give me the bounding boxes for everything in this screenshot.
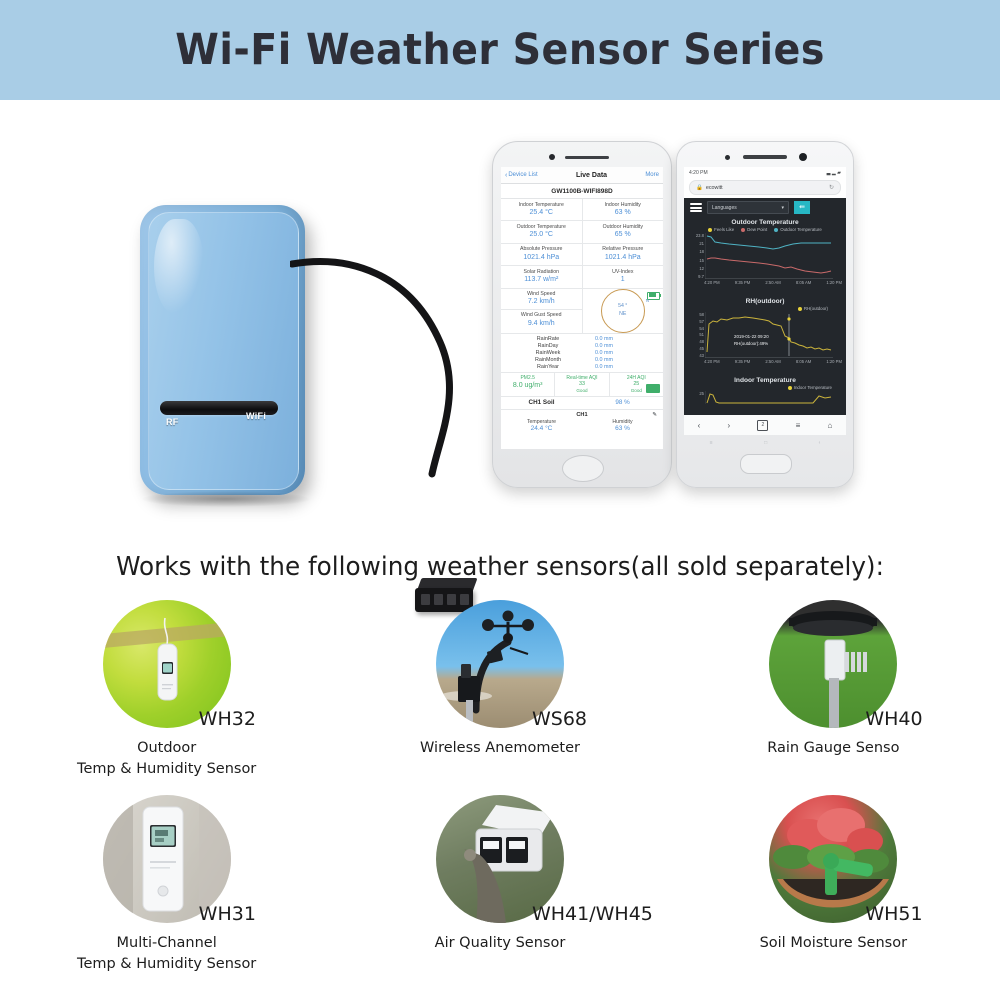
reading-uv-index: UV-Index 1 bbox=[582, 266, 664, 287]
reading-row: Solar Radiation 113.7 w/m² UV-Index 1 bbox=[501, 266, 663, 288]
lock-icon: 🔒 bbox=[696, 185, 703, 191]
browser-address-bar[interactable]: 🔒 ecowitt ↻ bbox=[689, 180, 841, 195]
reading-outdoor-temperature: Outdoor Temperature 25.0 °C bbox=[501, 221, 582, 242]
compass-north-label: N bbox=[646, 298, 649, 303]
compass-dial: 54 ° NE bbox=[601, 289, 645, 333]
reload-icon[interactable]: ↻ bbox=[829, 184, 834, 191]
y-tick: 18 bbox=[699, 249, 704, 254]
android-status-bar: 4:20 PM ▃ ▂ ▰ bbox=[684, 167, 846, 178]
pm25-value: 8.0 ug/m³ bbox=[501, 381, 554, 390]
caption-line-1: Soil Moisture Sensor bbox=[667, 933, 1000, 954]
x-tick: 8:05 AM bbox=[796, 359, 811, 364]
y-tick: 12 bbox=[699, 266, 704, 271]
chart-rh-outdoor: RH(outdoor) RH(outdoor) 58 57 54 51 bbox=[684, 297, 846, 370]
front-camera-icon bbox=[799, 153, 807, 161]
chart-plot: 23.8 21 18 15 12 9.7 bbox=[688, 233, 842, 291]
chart-tooltip: 2019-01-22 09:20 RH(outdoor):49% bbox=[734, 334, 769, 347]
tooltip-value: RH(outdoor):49% bbox=[734, 341, 769, 348]
chevron-left-icon: ‹ bbox=[505, 172, 507, 179]
ch1-readings: Temperature 24.4 °C Humidity 63 % bbox=[501, 419, 663, 432]
reading-relative-pressure: Relative Pressure 1021.4 hPa bbox=[582, 244, 664, 265]
earpiece-speaker bbox=[743, 155, 787, 159]
reading-absolute-pressure: Absolute Pressure 1021.4 hPa bbox=[501, 244, 582, 265]
caption-line-2: Temp & Humidity Sensor bbox=[0, 759, 333, 780]
reading-value: 25.4 °C bbox=[501, 208, 582, 217]
soil-label: CH1 Soil bbox=[501, 399, 582, 406]
sensor-model-wh41: WH41/WH45 bbox=[532, 903, 653, 925]
ecowitt-web-app: Languages ▾ ⇚ Outdoor Temperature Feels … bbox=[684, 198, 846, 435]
device-shadow bbox=[142, 491, 310, 507]
legend-item[interactable]: Feels Like bbox=[708, 227, 734, 232]
chart-legend: RH(outdoor) bbox=[684, 306, 846, 311]
y-tick: 54 bbox=[699, 326, 704, 331]
home-button[interactable] bbox=[562, 455, 604, 482]
x-tick: 2:50 AM bbox=[765, 359, 780, 364]
legend-label: Dew Point bbox=[747, 227, 767, 232]
iphone-mockup: ‹ Device List Live Data More GW1100B-WIF… bbox=[492, 141, 672, 488]
reading-row: Absolute Pressure 1021.4 hPa Relative Pr… bbox=[501, 244, 663, 266]
y-tick: 57 bbox=[699, 319, 704, 324]
chart-title: RH(outdoor) bbox=[684, 297, 846, 306]
wind-direction-compass: N 54 ° NE bbox=[582, 289, 664, 333]
android-screen: 4:20 PM ▃ ▂ ▰ 🔒 ecowitt ↻ Languages ▾ bbox=[684, 167, 846, 435]
caption-line-1: Multi-Channel bbox=[0, 933, 333, 954]
x-tick: 1:20 PM bbox=[826, 359, 842, 364]
sensor-card-wh32[interactable]: WH32 Outdoor Temp & Humidity Sensor bbox=[0, 600, 333, 795]
sensor-cable bbox=[290, 250, 480, 480]
x-tick: 4:20 PM bbox=[704, 280, 720, 285]
reading-indoor-temperature: Indoor Temperature 25.4 °C bbox=[501, 199, 582, 220]
sensor-card-wh51[interactable]: WH51 Soil Moisture Sensor bbox=[667, 795, 1000, 990]
browser-home-button[interactable]: ⌂ bbox=[828, 421, 833, 430]
proximity-sensor-icon bbox=[725, 155, 730, 160]
rain-row: RainMonth 0.0 mm bbox=[501, 356, 663, 363]
rain-row: RainRate 0.0 mm bbox=[501, 335, 663, 342]
x-tick: 1:20 PM bbox=[826, 280, 842, 285]
sensor-caption-wh31: Multi-Channel Temp & Humidity Sensor bbox=[0, 933, 333, 975]
hamburger-menu-icon[interactable] bbox=[690, 203, 702, 212]
rain-row: RainYear 0.0 mm bbox=[501, 363, 663, 370]
sensor-card-wh31[interactable]: WH31 Multi-Channel Temp & Humidity Senso… bbox=[0, 795, 333, 990]
reading-value: 65 % bbox=[583, 230, 664, 239]
system-navigation-bar: ≡ □ ‹ bbox=[684, 437, 846, 449]
language-select[interactable]: Languages ▾ bbox=[707, 201, 789, 214]
ch1-humidity: Humidity 63 % bbox=[582, 419, 663, 432]
y-tick: 58 bbox=[699, 312, 704, 317]
rain-label: RainWeek bbox=[501, 350, 595, 356]
ch1-temperature: Temperature 24.4 °C bbox=[501, 419, 582, 432]
device-gloss bbox=[154, 219, 204, 314]
rain-row: RainWeek 0.0 mm bbox=[501, 349, 663, 356]
chart-legend: Feels Like Dew Point Outdoor Temperature bbox=[684, 227, 846, 232]
browser-navigation-bar: ‹ › 2 ≡ ⌂ bbox=[684, 415, 846, 435]
caption-line-1: Outdoor bbox=[0, 738, 333, 759]
system-recent-button[interactable]: ≡ bbox=[710, 440, 713, 446]
sensor-caption-wh41: Air Quality Sensor bbox=[333, 933, 666, 954]
chart-lines bbox=[705, 312, 833, 358]
reading-row: Outdoor Temperature 25.0 °C Outdoor Humi… bbox=[501, 221, 663, 243]
chart-plot: 58 57 54 51 48 45 43 bbox=[688, 312, 842, 370]
reading-indoor-humidity: Indoor Humidity 63 % bbox=[582, 199, 664, 220]
reading-wind-speed: Wind Speed 7.2 km/h bbox=[501, 289, 582, 309]
chart-legend: Indoor Temperature bbox=[684, 385, 846, 390]
caption-line-2: Temp & Humidity Sensor bbox=[0, 954, 333, 975]
browser-back-button[interactable]: ‹ bbox=[698, 421, 701, 430]
x-axis-ticks: 4:20 PM 9:35 PM 2:50 AM 8:05 AM 1:20 PM bbox=[704, 280, 842, 285]
reading-value: 7.2 km/h bbox=[501, 297, 582, 306]
reading-value: 113.7 w/m² bbox=[501, 275, 582, 284]
ch1-temp-value: 24.4 °C bbox=[501, 425, 582, 432]
sensor-row-top: WH32 Outdoor Temp & Humidity Sensor bbox=[0, 600, 1000, 795]
x-tick: 9:35 PM bbox=[735, 280, 751, 285]
device-id-label: GW1100B-WIFI898D bbox=[501, 184, 663, 199]
legend-item[interactable]: Indoor Temperature bbox=[788, 385, 832, 390]
reading-value: 1 bbox=[583, 275, 664, 284]
app-toolbar: Languages ▾ ⇚ bbox=[684, 201, 846, 218]
reading-outdoor-humidity: Outdoor Humidity 65 % bbox=[582, 221, 664, 242]
hero-section: RF WiFi ‹ Device List Live Data More bbox=[0, 100, 1000, 540]
page-title: Wi-Fi Weather Sensor Series bbox=[175, 25, 825, 75]
y-tick: 15 bbox=[699, 258, 704, 263]
sensor-caption-wh51: Soil Moisture Sensor bbox=[667, 933, 1000, 954]
back-label: Device List bbox=[508, 172, 537, 178]
chart-plot: 25 bbox=[688, 391, 842, 405]
browser-tabs-button[interactable]: 2 bbox=[757, 420, 768, 431]
device-label-wifi: WiFi bbox=[246, 411, 266, 421]
legend-label: Outdoor Temperature bbox=[780, 227, 822, 232]
pm25-cell: PM2.5 8.0 ug/m³ bbox=[501, 373, 554, 396]
reading-solar-radiation: Solar Radiation 113.7 w/m² bbox=[501, 266, 582, 287]
sensor-card-wh41[interactable]: WH41/WH45 Air Quality Sensor bbox=[333, 795, 666, 990]
air-quality-section: PM2.5 8.0 ug/m³ Real-time AQI 33 Good 24… bbox=[501, 373, 663, 397]
y-tick: 21 bbox=[699, 241, 704, 246]
legend-label: Indoor Temperature bbox=[794, 385, 832, 390]
share-button[interactable]: ⇚ bbox=[794, 201, 810, 214]
language-select-value: Languages bbox=[712, 205, 737, 211]
x-axis-ticks: 4:20 PM 9:35 PM 2:50 AM 8:05 AM 1:20 PM bbox=[704, 359, 842, 364]
rain-label: RainYear bbox=[501, 364, 595, 370]
compass-direction: NE bbox=[619, 311, 626, 318]
page-header: Wi-Fi Weather Sensor Series bbox=[0, 0, 1000, 100]
chart-indoor-temperature: Indoor Temperature Indoor Temperature 25 bbox=[684, 376, 846, 405]
edit-pencil-icon[interactable]: ✎ bbox=[652, 412, 657, 418]
system-back-button[interactable]: ‹ bbox=[819, 440, 821, 446]
aqi-battery-icon bbox=[646, 384, 660, 393]
ch1-title: CH1 bbox=[576, 412, 587, 418]
back-to-device-list-button[interactable]: ‹ Device List bbox=[505, 172, 538, 179]
device-label-rf: RF bbox=[166, 417, 179, 427]
realtime-aqi-status: Good bbox=[555, 388, 608, 393]
soil-section: CH1 Soil 98 % bbox=[501, 397, 663, 410]
legend-label: Feels Like bbox=[714, 227, 734, 232]
front-camera-icon bbox=[549, 154, 555, 160]
share-icon: ⇚ bbox=[799, 204, 805, 211]
legend-item[interactable]: RH(outdoor) bbox=[798, 306, 828, 311]
rain-value: 0.0 mm bbox=[595, 364, 653, 370]
browser-forward-button[interactable]: › bbox=[728, 421, 731, 430]
caption-line-1: Air Quality Sensor bbox=[333, 933, 666, 954]
y-axis-ticks: 23.8 21 18 15 12 9.7 bbox=[688, 233, 704, 279]
sensor-model-wh31: WH31 bbox=[199, 903, 256, 925]
y-tick: 9.7 bbox=[698, 274, 704, 279]
sensor-caption-ws68: Wireless Anemometer bbox=[333, 738, 666, 759]
rain-label: RainDay bbox=[501, 343, 595, 349]
sensor-grid: WH32 Outdoor Temp & Humidity Sensor bbox=[0, 600, 1000, 990]
android-phone-mockup: 4:20 PM ▃ ▂ ▰ 🔒 ecowitt ↻ Languages ▾ bbox=[676, 141, 854, 488]
more-button[interactable]: More bbox=[645, 172, 659, 178]
nav-title: Live Data bbox=[576, 172, 607, 179]
reading-row: Indoor Temperature 25.4 °C Indoor Humidi… bbox=[501, 199, 663, 221]
status-time: 4:20 PM bbox=[689, 170, 708, 176]
sensor-model-ws68: WS68 bbox=[532, 708, 587, 730]
rain-label: RainRate bbox=[501, 336, 595, 342]
compass-degrees: 54 ° bbox=[618, 303, 627, 310]
sensor-caption-wh40: Rain Gauge Senso bbox=[667, 738, 1000, 759]
device-body: RF WiFi bbox=[140, 205, 305, 495]
reading-value: 25.0 °C bbox=[501, 230, 582, 239]
rain-section: RainRate 0.0 mm RainDay 0.0 mm RainWeek … bbox=[501, 334, 663, 373]
reading-wind-gust-speed: Wind Gust Speed 9.4 km/h bbox=[501, 309, 582, 330]
wind-section: Wind Speed 7.2 km/h Wind Gust Speed 9.4 … bbox=[501, 289, 663, 334]
realtime-aqi-value: 33 bbox=[555, 381, 608, 388]
ch1-header: CH1 ✎ bbox=[501, 410, 663, 419]
iphone-screen: ‹ Device List Live Data More GW1100B-WIF… bbox=[501, 167, 663, 449]
x-tick: 4:20 PM bbox=[704, 359, 720, 364]
rain-label: RainMonth bbox=[501, 357, 595, 363]
rain-value: 0.0 mm bbox=[595, 350, 653, 356]
reading-value: 63 % bbox=[583, 208, 664, 217]
legend-label: RH(outdoor) bbox=[804, 306, 828, 311]
sensor-model-wh40: WH40 bbox=[865, 708, 922, 730]
sensor-model-wh32: WH32 bbox=[199, 708, 256, 730]
chart-outdoor-temperature: Outdoor Temperature Feels Like Dew Point bbox=[684, 218, 846, 291]
y-tick: 45 bbox=[699, 346, 704, 351]
soil-value: 98 % bbox=[582, 399, 663, 406]
chevron-down-icon: ▾ bbox=[781, 205, 784, 211]
sensor-row-bottom: WH31 Multi-Channel Temp & Humidity Senso… bbox=[0, 795, 1000, 990]
rain-row: RainDay 0.0 mm bbox=[501, 342, 663, 349]
x-tick: 2:50 AM bbox=[765, 280, 780, 285]
sensor-model-wh51: WH51 bbox=[865, 903, 922, 925]
rain-value: 0.0 mm bbox=[595, 336, 653, 342]
y-axis-ticks: 58 57 54 51 48 45 43 bbox=[688, 312, 704, 358]
reading-value: 1021.4 hPa bbox=[501, 253, 582, 262]
physical-home-button[interactable] bbox=[740, 454, 792, 474]
y-tick: 23.8 bbox=[696, 233, 704, 238]
caption-line-1: Rain Gauge Senso bbox=[667, 738, 1000, 759]
x-tick: 8:05 AM bbox=[796, 280, 811, 285]
browser-menu-button[interactable]: ≡ bbox=[796, 421, 801, 430]
sensor-card-wh40[interactable]: WH40 Rain Gauge Senso bbox=[667, 600, 1000, 795]
tooltip-timestamp: 2019-01-22 09:20 bbox=[734, 334, 769, 341]
ch1-hum-value: 63 % bbox=[582, 425, 663, 432]
legend-item[interactable]: Dew Point bbox=[741, 227, 767, 232]
rain-value: 0.0 mm bbox=[595, 357, 653, 363]
system-home-button[interactable]: □ bbox=[764, 440, 767, 446]
app-nav-bar: ‹ Device List Live Data More bbox=[501, 167, 663, 184]
x-tick: 9:35 PM bbox=[735, 359, 751, 364]
earpiece-speaker bbox=[565, 156, 609, 159]
wind-values: Wind Speed 7.2 km/h Wind Gust Speed 9.4 … bbox=[501, 289, 582, 333]
status-icons: ▃ ▂ ▰ bbox=[827, 170, 841, 176]
rain-value: 0.0 mm bbox=[595, 343, 653, 349]
chart-title: Outdoor Temperature bbox=[684, 218, 846, 227]
chart-lines bbox=[705, 391, 833, 404]
y-tick: 48 bbox=[699, 339, 704, 344]
y-tick: 51 bbox=[699, 332, 704, 337]
sensors-heading: Works with the following weather sensors… bbox=[25, 552, 975, 582]
sensor-card-ws68[interactable]: WS68 Wireless Anemometer bbox=[333, 600, 666, 795]
chart-title: Indoor Temperature bbox=[684, 376, 846, 385]
y-axis-ticks: 25 bbox=[688, 391, 704, 404]
sensor-caption-wh32: Outdoor Temp & Humidity Sensor bbox=[0, 738, 333, 780]
url-text: ecowitt bbox=[706, 185, 723, 191]
reading-value: 1021.4 hPa bbox=[583, 253, 664, 262]
caption-line-1: Wireless Anemometer bbox=[333, 738, 666, 759]
reading-value: 9.4 km/h bbox=[501, 319, 582, 328]
chart-lines bbox=[705, 233, 833, 279]
legend-item[interactable]: Outdoor Temperature bbox=[774, 227, 822, 232]
realtime-aqi-cell: Real-time AQI 33 Good bbox=[554, 373, 608, 396]
y-tick: 43 bbox=[699, 353, 704, 358]
y-tick: 25 bbox=[699, 391, 704, 396]
